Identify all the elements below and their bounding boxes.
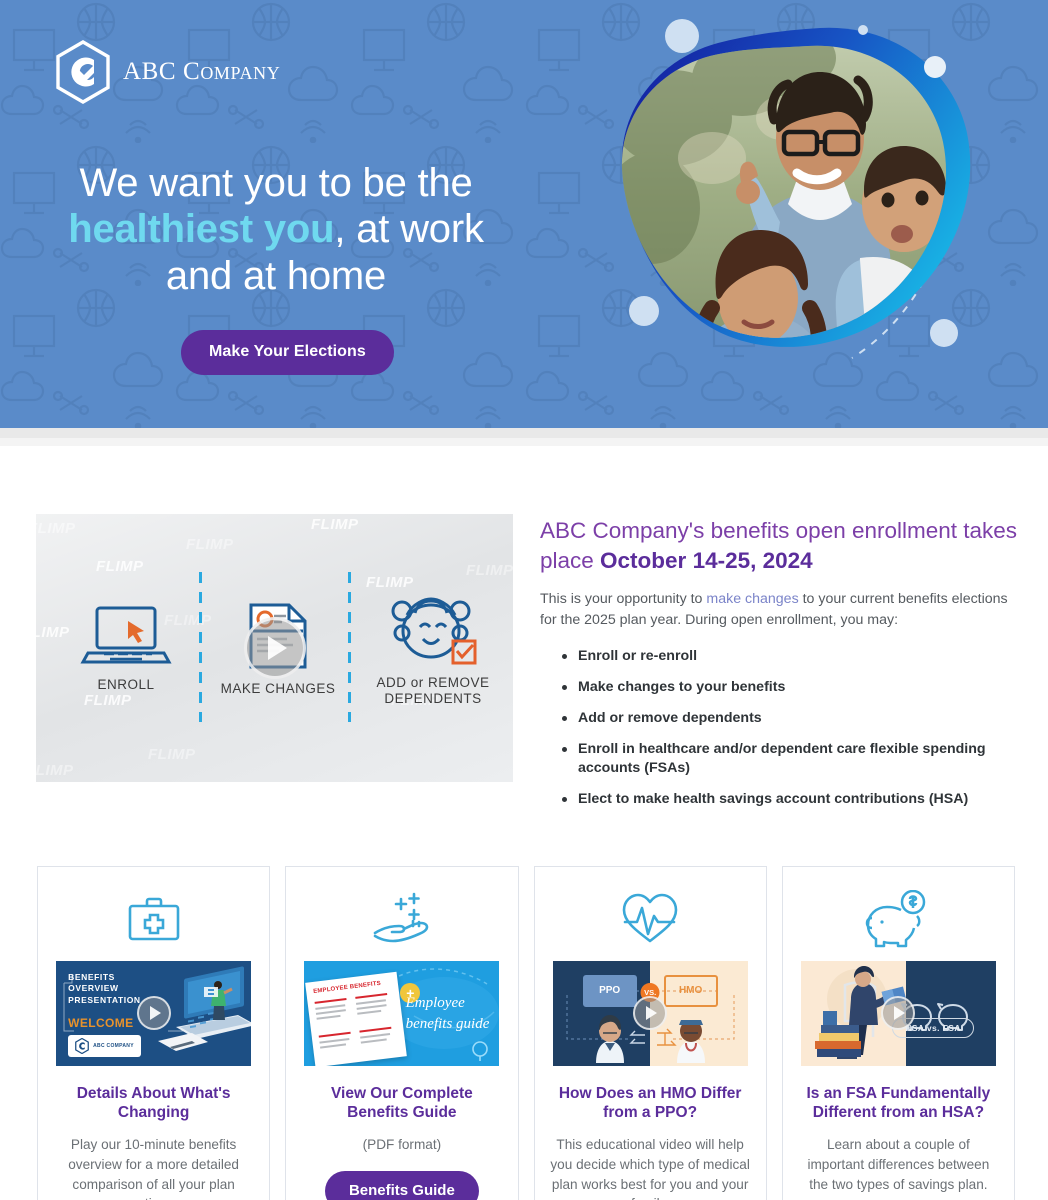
card-title: Is an FSA Fundamentally Different from a… bbox=[797, 1084, 1000, 1124]
piggy-bank-icon bbox=[865, 885, 931, 953]
hero-family-photo bbox=[592, 8, 1002, 416]
benefits-guide-thumbnail[interactable]: EMPLOYEE BENEFITS + bbox=[304, 961, 499, 1066]
video-divider-2 bbox=[348, 572, 351, 722]
headline-highlight: healthiest you bbox=[68, 207, 334, 251]
hexagon-c-logo-icon bbox=[55, 40, 111, 104]
card-fsa-vs-hsa[interactable]: HSA vs. FSA Is an FSA Fundamentally Diff… bbox=[782, 866, 1015, 1200]
card-description: Learn about a couple of important differ… bbox=[797, 1135, 1000, 1194]
laptop-icon bbox=[80, 603, 172, 669]
decorative-dot bbox=[665, 19, 699, 53]
hero-headline: We want you to be the healthiest you, at… bbox=[30, 160, 522, 299]
resource-cards: BENEFITS OVERVIEW PRESENTATION WELCOME A… bbox=[0, 822, 1048, 1200]
paragraph-before-link: This is your opportunity to bbox=[540, 591, 706, 607]
list-item: Elect to make health savings account con… bbox=[562, 790, 1018, 809]
hmo-folder-label: HMO bbox=[664, 975, 718, 1007]
play-button-icon[interactable] bbox=[881, 996, 915, 1030]
play-button-icon[interactable] bbox=[244, 617, 306, 679]
hero-banner: ABC Company We want you to be the health… bbox=[0, 0, 1048, 428]
card-description: This educational video will help you dec… bbox=[549, 1135, 752, 1200]
video-divider-1 bbox=[199, 572, 202, 722]
intro-row: FLIMP FLIMP FLIMP FLIMP FLIMP FLIMP FLIM… bbox=[0, 446, 1048, 822]
thumb-title: BENEFITS OVERVIEW PRESENTATION bbox=[68, 972, 141, 1007]
video-step-dependents: ADD or REMOVE DEPENDENTS bbox=[358, 514, 508, 782]
decorative-dot bbox=[858, 25, 868, 35]
card-details-about-whats-changing[interactable]: BENEFITS OVERVIEW PRESENTATION WELCOME A… bbox=[37, 866, 270, 1200]
benefits-guide-button[interactable]: Benefits Guide bbox=[325, 1171, 479, 1200]
video-step-enroll: ENROLL bbox=[56, 514, 196, 782]
make-your-elections-button[interactable]: Make Your Elections bbox=[181, 330, 394, 375]
decorative-dot bbox=[924, 56, 946, 78]
first-aid-kit-icon bbox=[126, 885, 182, 953]
section-divider-band-light bbox=[0, 438, 1048, 446]
benefits-overview-video-thumbnail[interactable]: BENEFITS OVERVIEW PRESENTATION WELCOME A… bbox=[56, 961, 251, 1066]
card-hmo-vs-ppo[interactable]: PPO HMO VS. How Does an HMO Differ from … bbox=[534, 866, 767, 1200]
decorative-dot bbox=[629, 296, 659, 326]
card-description: Play our 10-minute benefits overview for… bbox=[52, 1135, 255, 1200]
list-item: Make changes to your benefits bbox=[562, 678, 1018, 697]
thumb-script-text: Employee benefits guide bbox=[406, 993, 490, 1035]
make-changes-link[interactable]: make changes bbox=[706, 591, 798, 607]
enrollment-paragraph: This is your opportunity to make changes… bbox=[540, 589, 1018, 630]
hmo-ppo-video-thumbnail[interactable]: PPO HMO VS. bbox=[553, 961, 748, 1066]
hexagon-c-logo-icon bbox=[75, 1038, 89, 1054]
enrollment-title: ABC Company's benefits open enrollment t… bbox=[540, 516, 1018, 575]
intro-text-block: ABC Company's benefits open enrollment t… bbox=[540, 514, 1018, 822]
brand-logo[interactable]: ABC Company bbox=[55, 40, 280, 104]
enrollment-options-list: Enroll or re-enroll Make changes to your… bbox=[540, 647, 1018, 810]
video-step-label: ADD or REMOVE DEPENDENTS bbox=[358, 675, 508, 707]
hsa-fsa-video-thumbnail[interactable]: HSA vs. FSA bbox=[801, 961, 996, 1066]
list-item: Add or remove dependents bbox=[562, 709, 1018, 728]
brand-name: ABC Company bbox=[123, 58, 280, 86]
play-button-icon[interactable] bbox=[137, 996, 171, 1030]
thumb-subtitle: WELCOME bbox=[68, 1016, 133, 1030]
list-item: Enroll in healthcare and/or dependent ca… bbox=[562, 740, 1018, 778]
doc-heading: EMPLOYEE BENEFITS bbox=[313, 980, 381, 994]
section-divider-band bbox=[0, 428, 1048, 438]
benefits-doc-back: EMPLOYEE BENEFITS bbox=[306, 971, 408, 1065]
video-step-label: ENROLL bbox=[97, 677, 154, 693]
card-description: (PDF format) bbox=[363, 1135, 442, 1155]
enrollment-overview-video[interactable]: FLIMP FLIMP FLIMP FLIMP FLIMP FLIMP FLIM… bbox=[36, 514, 513, 782]
ppo-folder-label: PPO bbox=[583, 975, 637, 1007]
thumb-brand-badge: ABC COMPANY bbox=[68, 1035, 141, 1057]
enrollment-dates: October 14-25, 2024 bbox=[600, 548, 813, 573]
decorative-dot bbox=[930, 319, 958, 347]
card-title: View Our Complete Benefits Guide bbox=[300, 1084, 503, 1124]
child-face-icon bbox=[385, 589, 481, 667]
main-content: FLIMP FLIMP FLIMP FLIMP FLIMP FLIMP FLIM… bbox=[0, 446, 1048, 1200]
play-button-icon[interactable] bbox=[633, 996, 667, 1030]
hand-with-sparkles-icon bbox=[369, 885, 435, 953]
headline-part-1: We want you to be the bbox=[79, 161, 472, 205]
list-item: Enroll or re-enroll bbox=[562, 647, 1018, 666]
video-step-label: MAKE CHANGES bbox=[221, 681, 336, 697]
card-title: Details About What's Changing bbox=[52, 1084, 255, 1124]
card-benefits-guide[interactable]: EMPLOYEE BENEFITS + bbox=[285, 866, 518, 1200]
heart-pulse-icon bbox=[619, 885, 681, 953]
card-title: How Does an HMO Differ from a PPO? bbox=[549, 1084, 752, 1124]
